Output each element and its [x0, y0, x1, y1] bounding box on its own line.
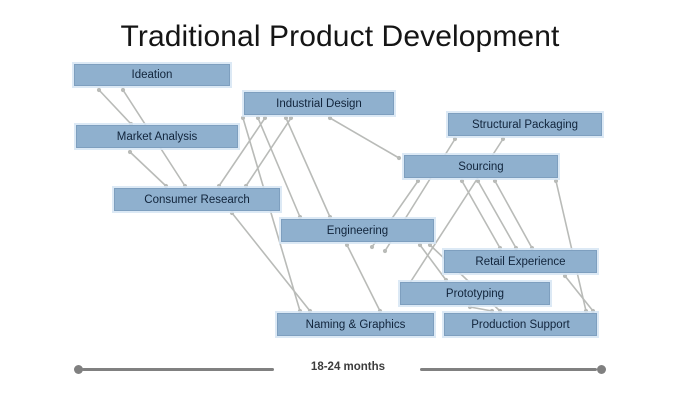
connector-industrial-design-to-sourcing	[328, 116, 401, 160]
process-node-label: Industrial Design	[276, 98, 362, 110]
connector-start-dot	[128, 150, 132, 154]
connector-start-dot	[453, 137, 457, 141]
connector-line	[478, 181, 516, 248]
connector-line	[99, 90, 131, 124]
connector-start-dot	[97, 88, 101, 92]
connector-line	[420, 245, 446, 280]
process-node-structural-packaging[interactable]: Structural Packaging	[448, 113, 602, 136]
process-node-naming-graphics[interactable]: Naming & Graphics	[277, 313, 434, 336]
process-node-label: Prototyping	[446, 288, 504, 300]
connector-industrial-design-to-consumer-research	[244, 116, 293, 188]
connector-sourcing-to-retail-experience	[460, 179, 502, 250]
connector-line	[130, 152, 166, 186]
connector-line	[470, 307, 492, 311]
timeline-left-line	[82, 368, 274, 371]
connector-ideation-to-market-analysis	[97, 88, 133, 126]
connector-start-dot	[256, 116, 260, 120]
connector-start-dot	[563, 274, 567, 278]
connector-start-dot	[230, 211, 234, 215]
connector-line	[330, 118, 399, 158]
process-node-label: Naming & Graphics	[306, 319, 406, 331]
connector-start-dot	[418, 243, 422, 247]
connector-start-dot	[289, 116, 293, 120]
connector-lines-layer	[0, 0, 680, 408]
connector-start-dot	[263, 116, 267, 120]
page-title: Traditional Product Development	[0, 19, 680, 55]
process-node-label: Production Support	[471, 319, 569, 331]
connector-sourcing-to-production-support	[554, 179, 588, 313]
connector-market-analysis-to-consumer-research	[128, 150, 168, 188]
connector-start-dot	[460, 179, 464, 183]
process-node-label: Ideation	[132, 69, 173, 81]
timeline-end-dot	[597, 365, 606, 374]
connector-industrial-design-to-engineering	[284, 116, 332, 219]
connector-start-dot	[468, 305, 472, 309]
process-node-engineering[interactable]: Engineering	[281, 219, 434, 242]
connector-end-dot	[383, 249, 387, 253]
connector-end-dot	[397, 156, 401, 160]
process-node-label: Sourcing	[458, 161, 503, 173]
connector-sourcing-to-retail-experience	[493, 179, 534, 250]
connector-engineering-to-naming-graphics	[345, 243, 382, 313]
process-node-label: Retail Experience	[475, 256, 565, 268]
connector-line	[286, 118, 330, 217]
process-node-label: Consumer Research	[144, 194, 249, 206]
connector-start-dot	[121, 88, 125, 92]
slide-canvas: Traditional Product Development Ideation…	[0, 0, 680, 408]
process-node-market-analysis[interactable]: Market Analysis	[76, 125, 238, 148]
connector-start-dot	[476, 179, 480, 183]
timeline-duration-label: 18-24 months	[280, 361, 416, 373]
process-node-consumer-research[interactable]: Consumer Research	[114, 188, 280, 211]
connector-line	[246, 118, 291, 186]
connector-line	[565, 276, 593, 311]
process-node-industrial-design[interactable]: Industrial Design	[244, 92, 394, 115]
connector-start-dot	[241, 116, 245, 120]
process-node-production-support[interactable]: Production Support	[444, 313, 597, 336]
connector-start-dot	[501, 137, 505, 141]
connector-line	[347, 245, 380, 311]
process-node-prototyping[interactable]: Prototyping	[400, 282, 550, 305]
connector-start-dot	[428, 243, 432, 247]
timeline-right-line	[420, 368, 597, 371]
connector-line	[495, 181, 532, 248]
connector-start-dot	[416, 179, 420, 183]
connector-start-dot	[493, 179, 497, 183]
connector-start-dot	[284, 116, 288, 120]
connector-start-dot	[328, 116, 332, 120]
connector-industrial-design-to-naming-graphics	[241, 116, 302, 313]
connector-sourcing-to-retail-experience	[476, 179, 518, 250]
connector-end-dot	[370, 245, 374, 249]
timeline: 18-24 months	[0, 355, 680, 385]
process-node-label: Engineering	[327, 225, 388, 237]
process-node-retail-experience[interactable]: Retail Experience	[444, 250, 597, 273]
process-node-sourcing[interactable]: Sourcing	[404, 155, 558, 178]
connector-start-dot	[554, 179, 558, 183]
process-node-label: Structural Packaging	[472, 119, 578, 131]
connector-line	[556, 181, 586, 311]
connector-start-dot	[345, 243, 349, 247]
connector-line	[462, 181, 500, 248]
connector-prototyping-to-production-support	[468, 305, 494, 313]
process-node-label: Market Analysis	[117, 131, 198, 143]
connector-retail-experience-to-production-support	[563, 274, 595, 313]
connector-line	[243, 118, 300, 311]
process-node-ideation[interactable]: Ideation	[74, 64, 230, 86]
